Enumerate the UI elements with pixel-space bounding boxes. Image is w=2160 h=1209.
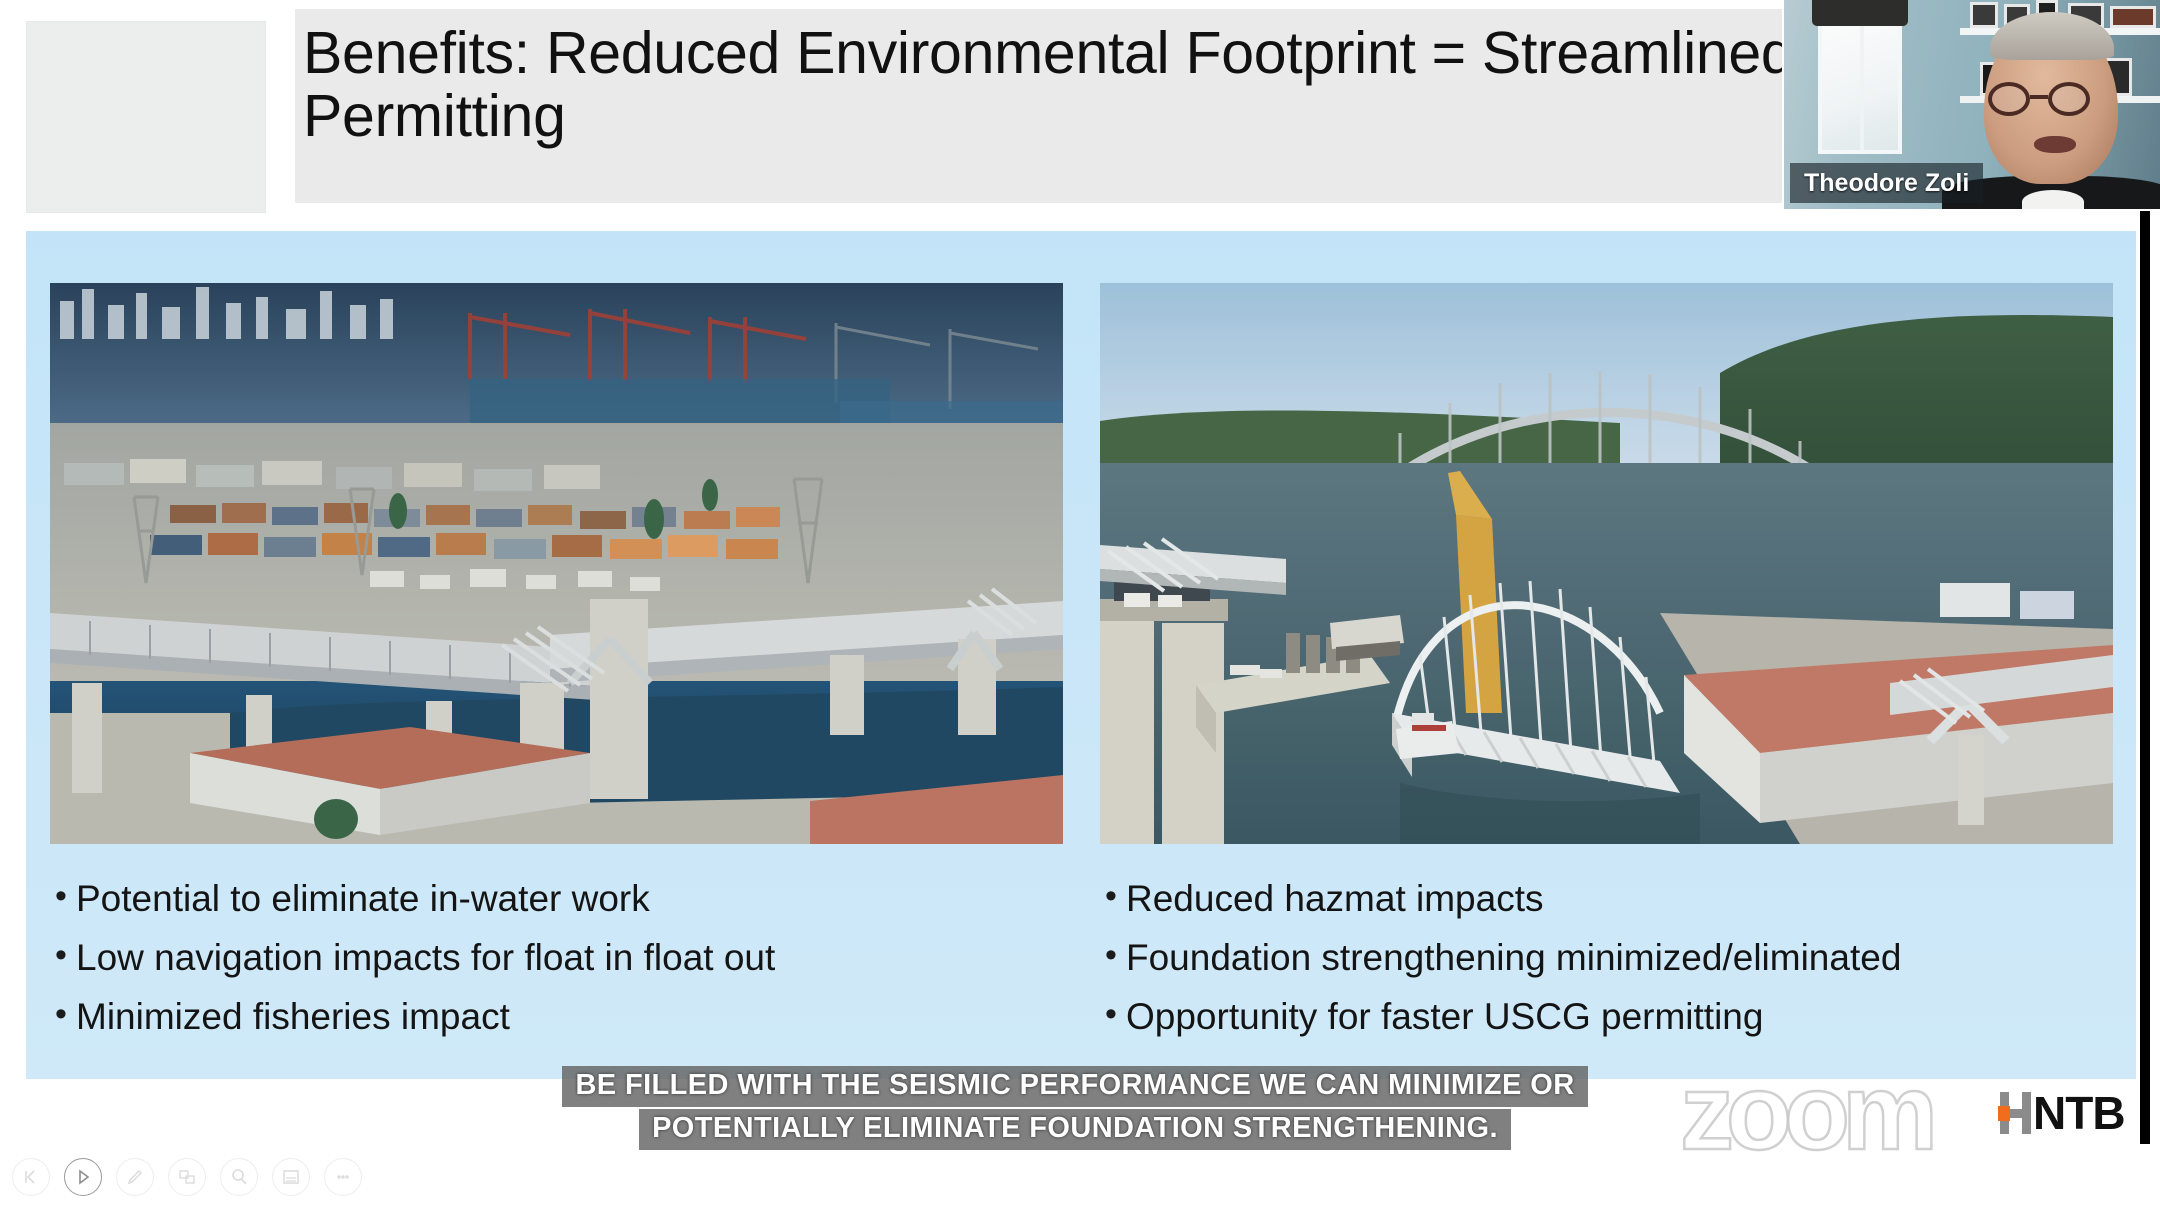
hntb-h-mark-icon [1998, 1092, 2032, 1134]
page-title: Benefits: Reduced Environmental Footprin… [303, 22, 1803, 148]
participant-name: Theodore Zoli [1804, 169, 1969, 198]
bullet-text: Reduced hazmat impacts [1126, 876, 1543, 921]
list-item: • Opportunity for faster USCG permitting [1096, 994, 2126, 1039]
bullet-glyph: • [46, 876, 76, 916]
list-item: • Potential to eliminate in-water work [46, 876, 1056, 921]
list-item: • Reduced hazmat impacts [1096, 876, 2126, 921]
speaker-collar [2022, 190, 2084, 211]
list-item: • Minimized fisheries impact [46, 994, 1056, 1039]
next-slide-button[interactable] [64, 1158, 102, 1196]
caption-line: POTENTIALLY ELIMINATE FOUNDATION STRENGT… [639, 1109, 1511, 1150]
chevron-left-icon [21, 1167, 41, 1187]
participant-name-badge: Theodore Zoli [1790, 163, 1983, 203]
slide-content-panel: • Potential to eliminate in-water work •… [26, 231, 2136, 1079]
bullet-glyph: • [1096, 994, 1126, 1034]
bullet-text: Opportunity for faster USCG permitting [1126, 994, 1763, 1039]
window-blind [1812, 0, 1908, 26]
bullet-text: Minimized fisheries impact [76, 994, 510, 1039]
hntb-wordmark: NTB [2033, 1092, 2125, 1134]
zoom-screen-share-window: Benefits: Reduced Environmental Footprin… [0, 0, 2160, 1209]
list-item: • Low navigation impacts for float in fl… [46, 935, 1056, 980]
zoom-tool-button[interactable] [220, 1158, 258, 1196]
hntb-logo: NTB [1998, 1092, 2125, 1134]
pen-icon [125, 1167, 145, 1187]
bullet-text: Potential to eliminate in-water work [76, 876, 650, 921]
bullet-text: Foundation strengthening minimized/elimi… [1126, 935, 1901, 980]
magnifier-icon [229, 1167, 249, 1187]
play-triangle-icon [73, 1167, 93, 1187]
bullet-glyph: • [46, 994, 76, 1034]
left-bullet-list: • Potential to eliminate in-water work •… [46, 876, 1056, 1053]
screen-icon [281, 1167, 301, 1187]
speaker-mouth [2034, 136, 2076, 153]
active-speaker-video-tile[interactable]: Theodore Zoli [1782, 0, 2160, 211]
previous-slide-button[interactable] [12, 1158, 50, 1196]
bullet-glyph: • [1096, 876, 1126, 916]
layout-grid-icon [177, 1167, 197, 1187]
presenter-view-button[interactable] [272, 1158, 310, 1196]
annotate-button[interactable] [116, 1158, 154, 1196]
more-options-button[interactable] [324, 1158, 362, 1196]
right-bullet-list: • Reduced hazmat impacts • Foundation st… [1096, 876, 2126, 1053]
list-item: • Foundation strengthening minimized/eli… [1096, 935, 2126, 980]
eyeglasses-icon [1980, 82, 2130, 116]
window-behind-speaker [1818, 4, 1902, 154]
book-stack [2110, 6, 2156, 28]
picture-frame [1970, 2, 1998, 28]
zoom-watermark: zoom [1680, 1058, 1930, 1166]
bullet-text: Low navigation impacts for float in floa… [76, 935, 775, 980]
bullet-glyph: • [46, 935, 76, 975]
left-rendering-image [50, 283, 1063, 844]
right-rendering-image [1100, 283, 2113, 844]
bullet-glyph: • [1096, 935, 1126, 975]
company-logo-placeholder [26, 21, 266, 213]
ellipsis-icon [333, 1167, 353, 1187]
slide-layout-button[interactable] [168, 1158, 206, 1196]
